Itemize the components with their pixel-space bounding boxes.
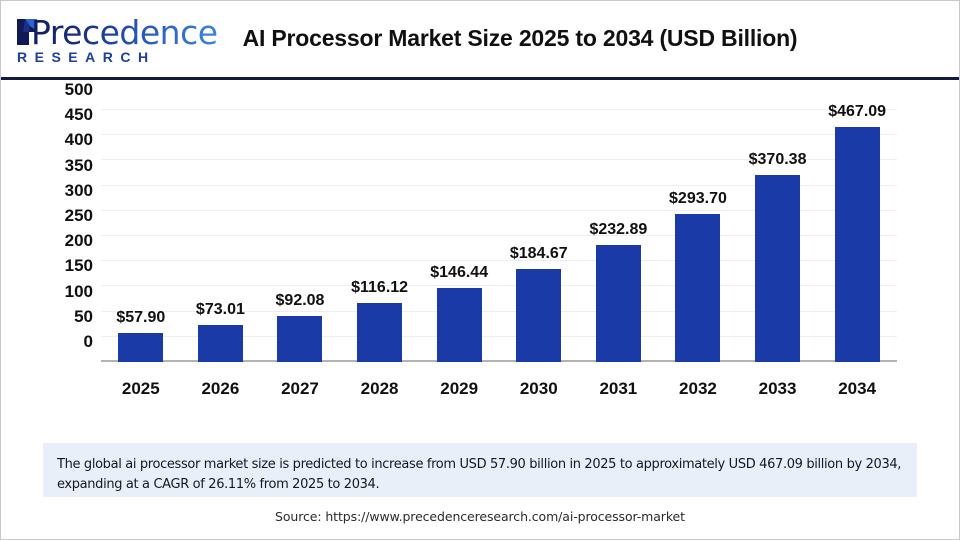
x-axis-tick-label: 2026 [181, 379, 261, 399]
y-axis-tick-label: 150 [65, 256, 93, 276]
bar-value-label: $370.38 [749, 151, 807, 169]
plot-area: 050100150200250300350400450500 $57.90$73… [1, 80, 959, 415]
bar-series: $57.90$73.01$92.08$116.12$146.44$184.67$… [101, 110, 897, 362]
bar-slot: $57.90 [101, 110, 181, 362]
bar[interactable] [516, 269, 561, 362]
bar[interactable] [675, 214, 720, 362]
bar-value-label: $116.12 [351, 279, 408, 297]
x-axis-tick-label: 2027 [260, 379, 340, 399]
x-axis-tick-label: 2029 [419, 379, 499, 399]
bar-value-label: $146.44 [430, 264, 488, 282]
bar-slot: $232.89 [579, 110, 659, 362]
y-axis-tick-label: 250 [65, 206, 93, 226]
x-axis-tick-label: 2025 [101, 379, 181, 399]
bar-value-label: $73.01 [196, 301, 245, 319]
bar[interactable] [437, 288, 482, 362]
chart-page: Precedence RESEARCH AI Processor Market … [0, 0, 960, 540]
bar-slot: $184.67 [499, 110, 579, 362]
bar[interactable] [357, 303, 402, 362]
bar-slot: $467.09 [817, 110, 897, 362]
x-axis-tick-label: 2028 [340, 379, 420, 399]
bar-slot: $73.01 [181, 110, 261, 362]
bar-slot: $116.12 [340, 110, 420, 362]
y-axis-tick-label: 100 [65, 282, 93, 302]
bar-value-label: $467.09 [828, 103, 886, 121]
x-axis-tick-label: 2031 [579, 379, 659, 399]
description-box: The global ai processor market size is p… [43, 443, 917, 497]
x-axis-tick-label: 2033 [738, 379, 818, 399]
bar[interactable] [277, 316, 322, 362]
y-axis-tick-label: 0 [84, 332, 93, 352]
y-axis-tick-label: 500 [65, 80, 93, 100]
bar-value-label: $293.70 [669, 190, 727, 208]
chart-title: AI Processor Market Size 2025 to 2034 (U… [1, 25, 959, 52]
bar[interactable] [755, 175, 800, 362]
y-axis-tick-label: 450 [65, 105, 93, 125]
bar-slot: $92.08 [260, 110, 340, 362]
y-axis-tick-label: 400 [65, 130, 93, 150]
x-axis-labels: 2025202620272028202920302031203220332034 [101, 379, 897, 399]
description-text: The global ai processor market size is p… [57, 455, 903, 495]
bar-slot: $370.38 [738, 110, 818, 362]
bar[interactable] [596, 245, 641, 362]
bar[interactable] [198, 325, 243, 362]
source-line: Source: https://www.precedenceresearch.c… [1, 509, 959, 524]
y-axis-tick-label: 200 [65, 231, 93, 251]
plot-canvas: $57.90$73.01$92.08$116.12$146.44$184.67$… [101, 110, 897, 362]
bar-value-label: $232.89 [589, 221, 647, 239]
y-axis-labels: 050100150200250300350400450500 [41, 110, 93, 362]
chart-header: Precedence RESEARCH AI Processor Market … [1, 1, 959, 80]
bar-slot: $293.70 [658, 110, 738, 362]
x-axis-tick-label: 2030 [499, 379, 579, 399]
bar-slot: $146.44 [419, 110, 499, 362]
bar-value-label: $92.08 [276, 292, 325, 310]
x-axis-tick-label: 2034 [817, 379, 897, 399]
y-axis-tick-label: 300 [65, 181, 93, 201]
bar-value-label: $57.90 [116, 309, 165, 327]
x-axis-tick-label: 2032 [658, 379, 738, 399]
bar-value-label: $184.67 [510, 245, 568, 263]
bar[interactable] [835, 127, 880, 362]
y-axis-tick-label: 50 [74, 307, 93, 327]
y-axis-tick-label: 350 [65, 156, 93, 176]
bar[interactable] [118, 333, 163, 362]
